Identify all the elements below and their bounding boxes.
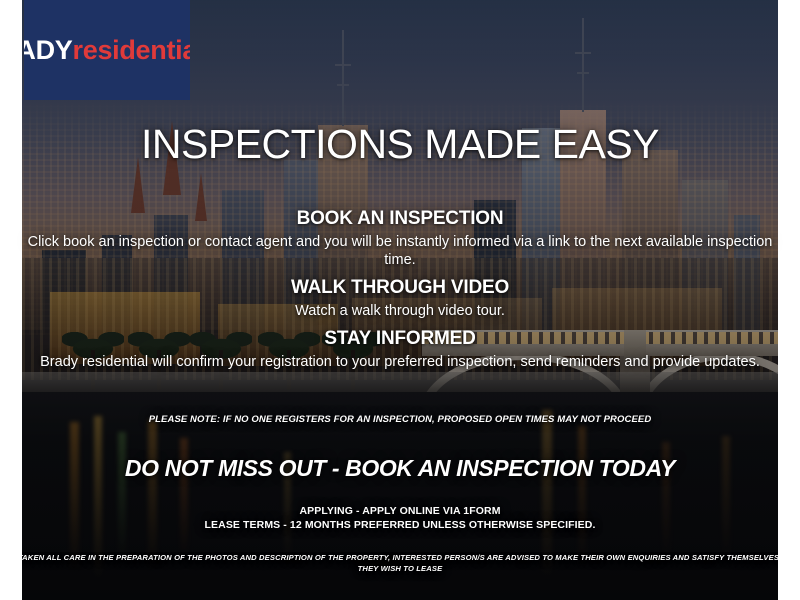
section-heading: WALK THROUGH VIDEO [22, 277, 778, 299]
section-body: Brady residential will confirm your regi… [22, 353, 778, 371]
section-book-an-inspection: BOOK AN INSPECTION Click book an inspect… [22, 208, 778, 269]
call-to-action-text: DO NOT MISS OUT - BOOK AN INSPECTION TOD… [22, 455, 778, 482]
section-stay-informed: STAY INFORMED Brady residential will con… [22, 328, 778, 371]
promo-banner: BRADYresidential INSPECTIONS MADE EASY B… [0, 0, 800, 600]
section-body: Watch a walk through video tour. [22, 302, 778, 320]
promo-copy: INSPECTIONS MADE EASY BOOK AN INSPECTION… [22, 0, 778, 600]
section-heading: BOOK AN INSPECTION [22, 208, 778, 230]
applying-line: APPLYING - APPLY ONLINE VIA 1FORM [22, 504, 778, 518]
please-note-text: PLEASE NOTE: IF NO ONE REGISTERS FOR AN … [22, 414, 778, 425]
section-body: Click book an inspection or contact agen… [22, 233, 778, 269]
lease-terms-line: LEASE TERMS - 12 MONTHS PREFERRED UNLESS… [22, 518, 778, 532]
disclaimer-clip: TY LTD HAS TAKEN ALL CARE IN THE PREPARA… [22, 552, 778, 586]
legal-disclaimer: TY LTD HAS TAKEN ALL CARE IN THE PREPARA… [22, 552, 778, 574]
page-title: INSPECTIONS MADE EASY [22, 121, 778, 168]
section-heading: STAY INFORMED [22, 328, 778, 350]
terms-block: APPLYING - APPLY ONLINE VIA 1FORM LEASE … [22, 504, 778, 532]
section-walk-through-video: WALK THROUGH VIDEO Watch a walk through … [22, 277, 778, 320]
